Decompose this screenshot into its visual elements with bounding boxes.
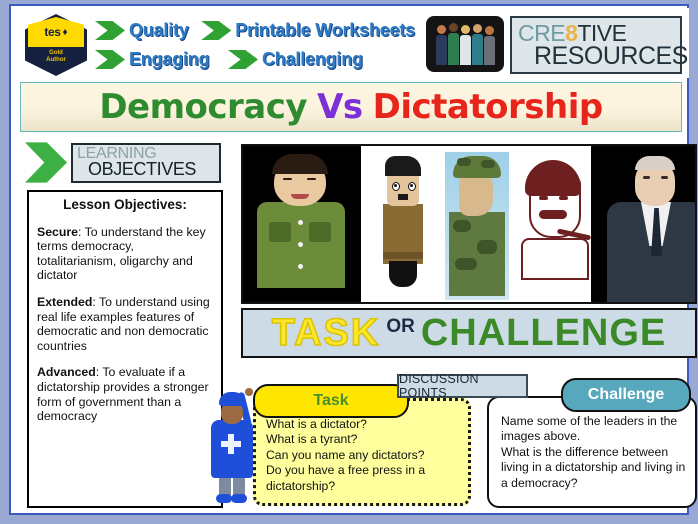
title-word-vs: Vs [317,87,363,127]
challenge-question: Name some of the leaders in the images a… [501,414,687,445]
objective-item: Extended: To understand using real life … [37,295,213,353]
challenge-label-pill: Challenge [561,378,691,412]
person [460,25,471,65]
learning-objectives-badge: LEARNING OBJECTIVES [71,143,221,183]
person [448,23,459,65]
banner-word-challenge: CHALLENGE [421,312,666,355]
diamond-icon: ♦ [63,27,68,38]
leader-images-panel [241,144,697,304]
tes-logo-text: tes [44,25,60,39]
page-title: Democracy Vs Dictatorship [20,82,682,132]
badge-sub-line2: Author [25,57,87,64]
task-question: Can you name any dictators? [266,448,460,463]
objective-label-secure: Secure [37,225,78,239]
lesson-objectives-heading: Lesson Objectives: [37,198,213,213]
tes-gold-author-badge: tes ♦ Gold Author [25,14,87,76]
badge-subtitle: Gold Author [25,50,87,64]
title-word-dictatorship: Dictatorship [373,87,603,127]
person [472,24,483,65]
chevron-right-icon [201,21,231,40]
brand-line-1: CRE8TIVE [518,23,680,44]
objective-label-extended: Extended [37,295,92,309]
knight-character [201,386,263,510]
kim-jong-un-cartoon [243,146,361,302]
chevron-right-icon [95,50,125,69]
lo-line-objectives: OBJECTIVES [77,161,219,178]
chevron-right-icon [228,50,258,69]
feature-label-challenging: Challenging [262,49,363,70]
creative-resources-logo: CRE8TIVE RESOURCES [510,16,682,74]
person [436,25,447,65]
feature-label-engaging: Engaging [129,49,224,70]
objective-item: Secure: To understand the key terms demo… [37,225,213,283]
chevron-right-icon [25,142,67,184]
task-question: What is a tyrant? [266,432,460,447]
badge-top: tes ♦ [28,17,84,47]
header-feature-row-1: Quality Printable Worksheets [95,16,415,45]
objective-label-advanced: Advanced [37,365,96,379]
banner-word-task: TASK [272,312,381,355]
slide-frame: tes ♦ Gold Author Quality Printable Work… [0,0,698,524]
discussion-points-label: DISCUSSION POINTS [397,374,528,398]
slide-inner: tes ♦ Gold Author Quality Printable Work… [9,4,689,515]
lesson-objectives-box: Lesson Objectives: Secure: To understand… [27,190,223,508]
title-word-democracy: Democracy [99,87,307,127]
challenge-questions-box: Name some of the leaders in the images a… [487,396,697,508]
feature-label-printable-worksheets: Printable Worksheets [235,20,415,41]
task-question: What is a dictator? [266,417,460,432]
brand-line-2: RESOURCES [518,44,680,68]
chevron-right-icon [95,21,125,40]
badge-sub-line1: Gold [25,50,87,57]
task-panel: What is a dictator? What is a tyrant? Ca… [239,384,471,508]
task-or-challenge-banner: TASK OR CHALLENGE [241,308,697,358]
students-photo [426,16,504,72]
banner-word-or: OR [386,316,415,338]
challenge-question: What is the difference between living in… [501,445,687,491]
stalin-illustration [513,146,591,302]
putin-photo [591,146,695,302]
header-bar: tes ♦ Gold Author Quality Printable Work… [13,8,689,78]
feature-label-quality: Quality [129,20,197,41]
task-question: Do you have a free press in a dictatorsh… [266,463,460,494]
task-label-pill: Task [253,384,409,418]
person [484,26,495,65]
header-feature-list: Quality Printable Worksheets Engaging Ch… [95,16,415,74]
hitler-cartoon [361,146,441,302]
objective-item: Advanced: To evaluate if a dictatorship … [37,365,213,423]
learning-objectives-header: LEARNING OBJECTIVES [25,140,223,185]
header-feature-row-2: Engaging Challenging [95,45,415,74]
people-group [436,23,495,65]
assad-caricature [441,146,513,302]
